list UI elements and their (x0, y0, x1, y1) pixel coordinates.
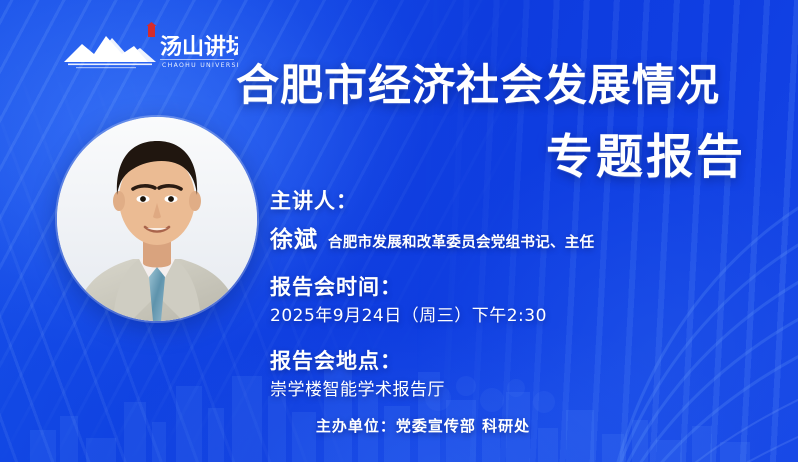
venue-label: 报告会地点： (270, 348, 700, 374)
lecture-poster: 汤山讲坛 CHAOHU UNIVERSITY (0, 0, 798, 462)
venue-value: 崇学楼智能学术报告厅 (270, 378, 700, 402)
lecture-details: 主讲人： 徐斌 合肥市发展和改革委员会党组书记、主任 报告会时间： 2025年9… (270, 188, 700, 402)
page-title-line-1: 合肥市经济社会发展情况 (236, 62, 720, 110)
time-label: 报告会时间： (270, 274, 700, 300)
chaohu-university-logo: 汤山讲坛 CHAOHU UNIVERSITY (62, 22, 238, 74)
page-title-line-2: 专题报告 (546, 132, 746, 184)
svg-text:汤山讲坛: 汤山讲坛 (160, 35, 238, 60)
speaker-name: 徐斌 (270, 220, 318, 254)
speaker-row: 徐斌 合肥市发展和改革委员会党组书记、主任 (270, 220, 700, 254)
speaker-job-title: 合肥市发展和改革委员会党组书记、主任 (328, 231, 594, 252)
svg-text:CHAOHU UNIVERSITY: CHAOHU UNIVERSITY (162, 62, 238, 69)
time-value: 2025年9月24日（周三）下午2:30 (270, 304, 700, 328)
speaker-label: 主讲人： (270, 188, 700, 214)
organizer-footer: 主办单位：党委宣传部 科研处 (0, 415, 798, 436)
mountain-logo-icon: 汤山讲坛 CHAOHU UNIVERSITY (62, 22, 238, 74)
speaker-portrait (57, 117, 257, 321)
avatar (57, 117, 257, 321)
